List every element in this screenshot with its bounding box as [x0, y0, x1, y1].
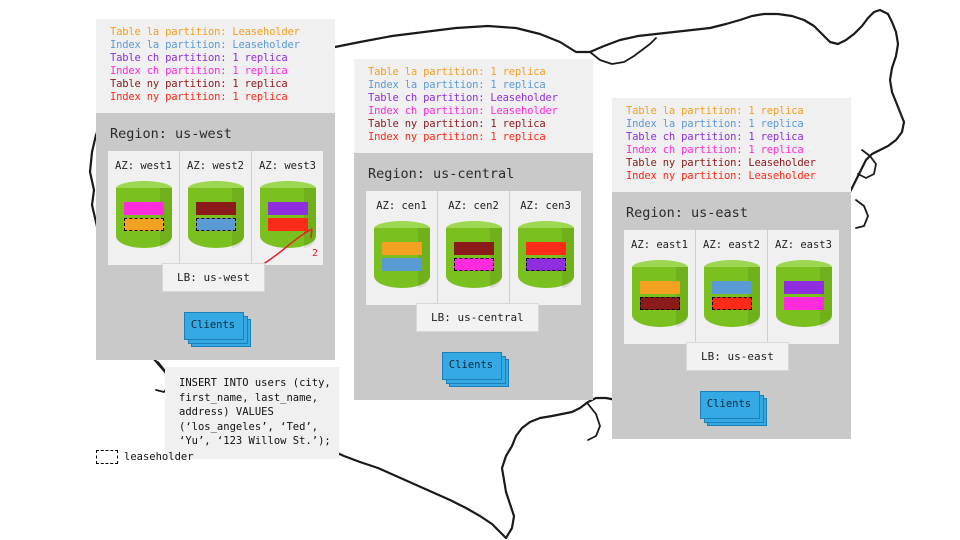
legend-row: Table la partition: 1 replica [612, 105, 851, 118]
replica-bar [784, 297, 824, 310]
sql-line: (‘los_angeles’, ‘Ted’, [179, 420, 327, 435]
clients-stack-us-central[interactable]: Clients [442, 352, 500, 378]
region-title: Region: us-central [354, 153, 593, 191]
database-cylinder-cen2 [446, 221, 502, 295]
legend-row: Index ny partition: 1 replica [354, 131, 593, 144]
region-title: Region: us-west [96, 113, 335, 151]
az-label: AZ: east2 [696, 239, 767, 251]
database-cylinder-east1 [632, 260, 688, 334]
az-card-cen2[interactable]: AZ: cen2 [437, 191, 509, 305]
region-panel-us-east: Table la partition: 1 replica Index la p… [612, 98, 851, 439]
clients-label: Clients [700, 391, 758, 417]
sql-line: ‘Yu’, ‘123 Willow St.’); [179, 434, 327, 449]
legend-row: Index ny partition: 1 replica [96, 91, 335, 104]
az-label: AZ: cen2 [438, 200, 509, 212]
sql-note-box: INSERT INTO users (city, first_name, las… [165, 367, 339, 459]
database-cylinder-east2 [704, 260, 760, 334]
az-label: AZ: cen3 [510, 200, 581, 212]
load-balancer-us-east[interactable]: LB: us-east [686, 342, 789, 371]
replica-bar [784, 281, 824, 294]
legend-row: Table ny partition: Leaseholder [612, 157, 851, 170]
clients-stack-us-east[interactable]: Clients [700, 391, 758, 417]
az-card-east2[interactable]: AZ: east2 [695, 230, 767, 344]
region-body-us-east: Region: us-east AZ: east1 AZ: east2 [612, 192, 851, 439]
key-legend: leaseholder [96, 450, 194, 464]
legend-row: Index la partition: 1 replica [612, 118, 851, 131]
legend-row: Index ch partition: 1 replica [612, 144, 851, 157]
region-panel-us-central: Table la partition: 1 replica Index la p… [354, 59, 593, 400]
replica-bar-leaseholder [712, 297, 752, 310]
legend-row: Index ch partition: Leaseholder [354, 105, 593, 118]
legend-row: Table la partition: Leaseholder [96, 26, 335, 39]
legend-row: Table ch partition: 1 replica [612, 131, 851, 144]
az-card-cen1[interactable]: AZ: cen1 [366, 191, 437, 305]
replica-bar [712, 281, 752, 294]
az-label: AZ: west1 [108, 160, 179, 172]
legend-box-us-west: Table la partition: Leaseholder Index la… [96, 19, 335, 113]
replica-bar [268, 202, 308, 215]
region-panel-us-west: Table la partition: Leaseholder Index la… [96, 19, 335, 360]
database-cylinder-east3 [776, 260, 832, 334]
leaseholder-swatch-icon [96, 450, 118, 464]
legend-row: Table ch partition: Leaseholder [354, 92, 593, 105]
legend-box-us-central: Table la partition: 1 replica Index la p… [354, 59, 593, 153]
legend-row: Table ch partition: 1 replica [96, 52, 335, 65]
az-label: AZ: east3 [768, 239, 839, 251]
sql-line: INSERT INTO users (city, [179, 376, 327, 391]
az-card-cen3[interactable]: AZ: cen3 [509, 191, 581, 305]
legend-row: Index la partition: 1 replica [354, 79, 593, 92]
az-label: AZ: west2 [180, 160, 251, 172]
database-cylinder-west1 [116, 181, 172, 255]
replica-bar [454, 242, 494, 255]
legend-row: Table ny partition: 1 replica [354, 118, 593, 131]
database-cylinder-cen1 [374, 221, 430, 295]
legend-row: Index la partition: Leaseholder [96, 39, 335, 52]
sql-line: address) VALUES [179, 405, 327, 420]
load-balancer-us-west[interactable]: LB: us-west [162, 263, 265, 292]
region-body-us-central: Region: us-central AZ: cen1 AZ: cen2 [354, 153, 593, 400]
replica-bar-leaseholder [454, 258, 494, 271]
legend-box-us-east: Table la partition: 1 replica Index la p… [612, 98, 851, 192]
replica-bar-leaseholder [526, 258, 566, 271]
database-cylinder-cen3 [518, 221, 574, 295]
clients-label: Clients [184, 312, 242, 338]
legend-row: Table la partition: 1 replica [354, 66, 593, 79]
replica-bar [124, 202, 164, 215]
replica-bar [640, 281, 680, 294]
clients-stack-us-west[interactable]: Clients [184, 312, 242, 338]
legend-row: Index ch partition: 1 replica [96, 65, 335, 78]
sql-line: first_name, last_name, [179, 391, 327, 406]
replica-bar [526, 242, 566, 255]
key-legend-label: leaseholder [124, 451, 194, 463]
replica-bar [196, 202, 236, 215]
az-label: AZ: cen1 [366, 200, 437, 212]
load-balancer-us-central[interactable]: LB: us-central [416, 303, 539, 332]
az-card-east1[interactable]: AZ: east1 [624, 230, 695, 344]
replica-bar-leaseholder [124, 218, 164, 231]
annotation-label-2: 2 [312, 248, 318, 259]
legend-row: Index ny partition: Leaseholder [612, 170, 851, 183]
region-body-us-west: Region: us-west AZ: west1 AZ: west2 [96, 113, 335, 360]
clients-label: Clients [442, 352, 500, 378]
replica-bar-leaseholder [640, 297, 680, 310]
az-label: AZ: west3 [252, 160, 323, 172]
az-row-us-east: AZ: east1 AZ: east2 AZ: east3 [624, 230, 839, 344]
region-title: Region: us-east [612, 192, 851, 230]
replica-bar [382, 242, 422, 255]
az-card-east3[interactable]: AZ: east3 [767, 230, 839, 344]
az-card-west1[interactable]: AZ: west1 [108, 151, 179, 265]
az-label: AZ: east1 [624, 239, 695, 251]
replica-bar [382, 258, 422, 271]
legend-row: Table ny partition: 1 replica [96, 78, 335, 91]
az-row-us-central: AZ: cen1 AZ: cen2 AZ: cen3 [366, 191, 581, 305]
